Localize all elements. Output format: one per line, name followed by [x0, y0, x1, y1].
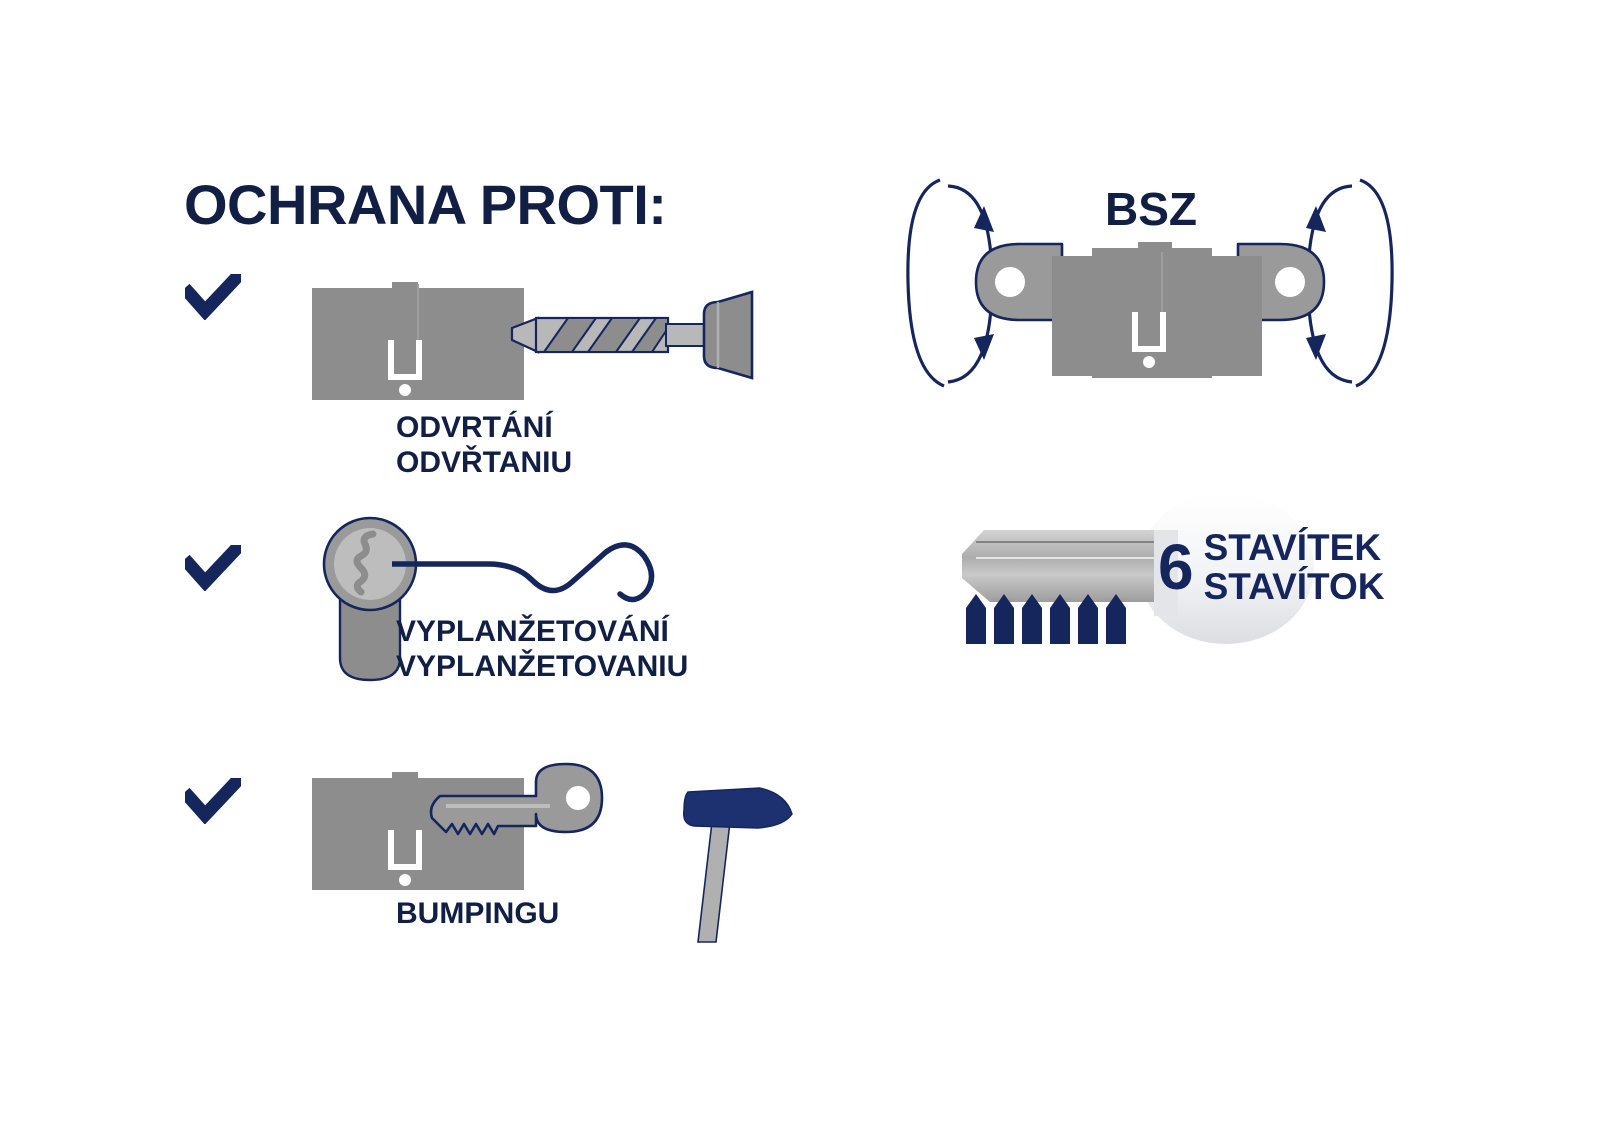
- infographic-canvas: OCHRANA PROTI:: [0, 0, 1600, 1141]
- checkmark-icon: [185, 545, 241, 591]
- pin-label-cs: STAVÍTEK: [1204, 528, 1385, 567]
- pin-count-label-group: 6 STAVÍTEK STAVÍTOK: [1158, 528, 1385, 606]
- checkmark-icon: [185, 274, 241, 320]
- item-label-group: BUMPINGU: [396, 896, 559, 931]
- pin-count-words: STAVÍTEK STAVÍTOK: [1204, 528, 1385, 606]
- drill-bit-icon: [512, 292, 752, 378]
- item-label-cs: VYPLANŽETOVÁNÍ: [396, 614, 688, 649]
- bsz-cylinder-body: [1052, 248, 1262, 380]
- cylinder-body: [312, 282, 524, 400]
- page-title: OCHRANA PROTI:: [184, 172, 666, 237]
- pin-label-sk: STAVÍTOK: [1204, 567, 1385, 606]
- item-label-cs: BUMPINGU: [396, 896, 559, 931]
- hammer-icon: [660, 770, 805, 945]
- lock-cylinder-with-key-illustration: [300, 762, 680, 902]
- pin-count-number: 6: [1158, 535, 1194, 599]
- lock-cylinder-with-drill-illustration: [300, 272, 770, 412]
- item-label-sk: ODVŘTANIU: [396, 445, 572, 480]
- item-label-group: ODVRTÁNÍ ODVŘTANIU: [396, 410, 572, 481]
- item-label-group: VYPLANŽETOVÁNÍ VYPLANŽETOVANIU: [396, 614, 688, 685]
- lock-pick-wire-icon: [392, 528, 692, 608]
- item-label-cs: ODVRTÁNÍ: [396, 410, 572, 445]
- pin: [966, 594, 986, 644]
- item-label-sk: VYPLANŽETOVANIU: [396, 649, 688, 684]
- checkmark-icon: [185, 778, 241, 824]
- key-icon: [431, 764, 602, 834]
- key-blade: [962, 530, 1164, 602]
